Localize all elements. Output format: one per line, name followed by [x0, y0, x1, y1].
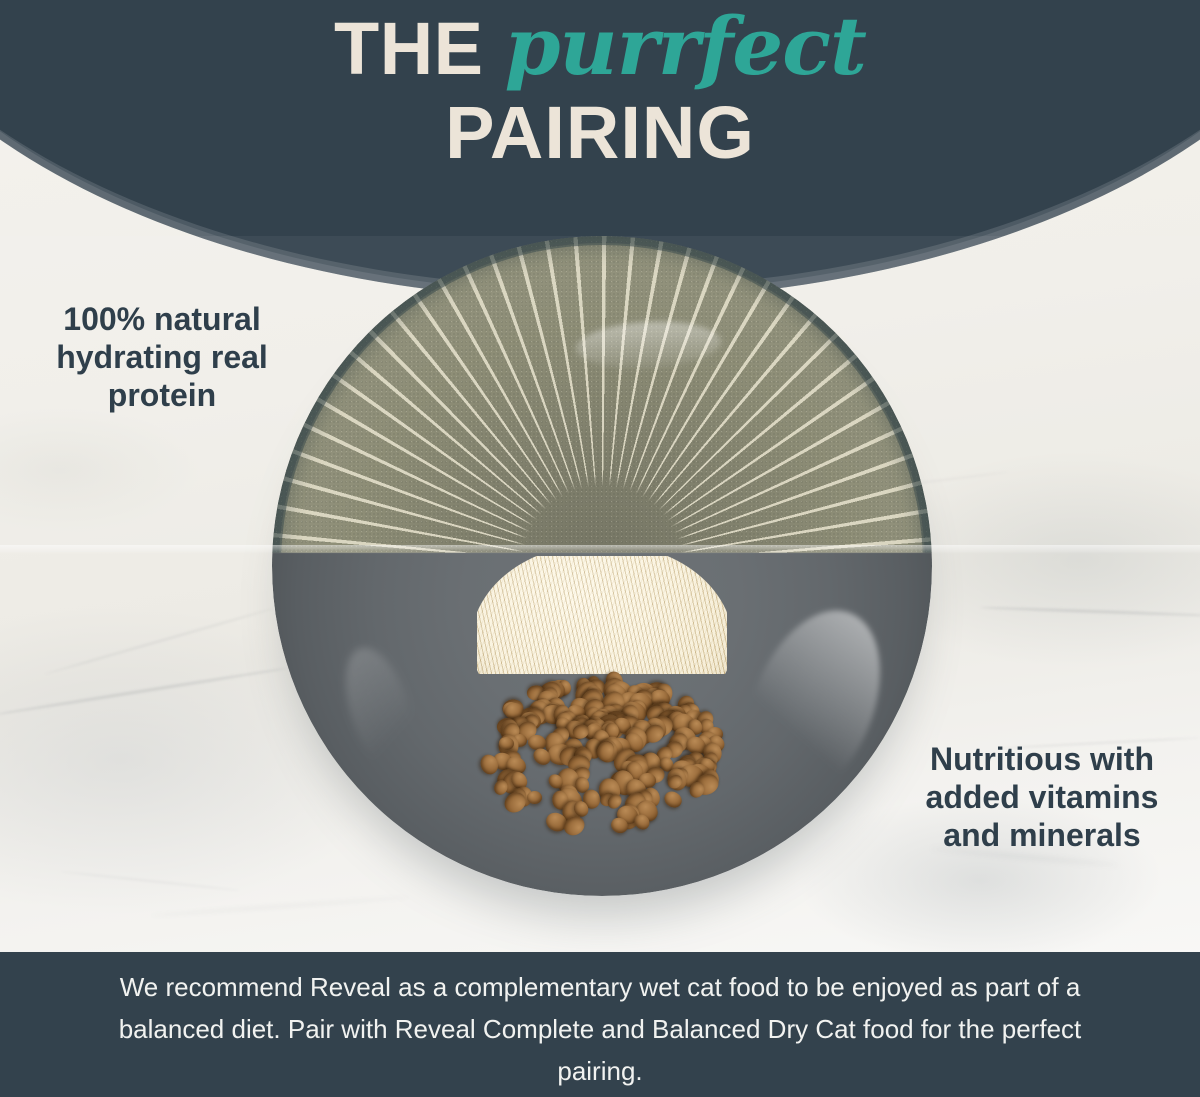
- callout-left-text: 100% natural hydrating real protein: [28, 300, 296, 414]
- callout-right-text: Nutritious with added vitamins and miner…: [898, 740, 1186, 854]
- shred-mound-shape: [477, 556, 727, 674]
- shredded-wet-chicken: [477, 556, 727, 674]
- disclaimer-text: We recommend Reveal as a complementary w…: [90, 958, 1110, 1092]
- kibble-pellet: [661, 789, 684, 811]
- dry-kibble-pile: [477, 668, 727, 828]
- promo-graphic: THE purrfect PAIRING: [0, 0, 1200, 1097]
- bottom-disclaimer-banner: We recommend Reveal as a complementary w…: [0, 952, 1200, 1097]
- kibble-pellet: [527, 790, 542, 803]
- shred-strands-texture: [477, 556, 727, 674]
- product-bowl-image: [272, 236, 932, 896]
- food-mound: [477, 556, 727, 826]
